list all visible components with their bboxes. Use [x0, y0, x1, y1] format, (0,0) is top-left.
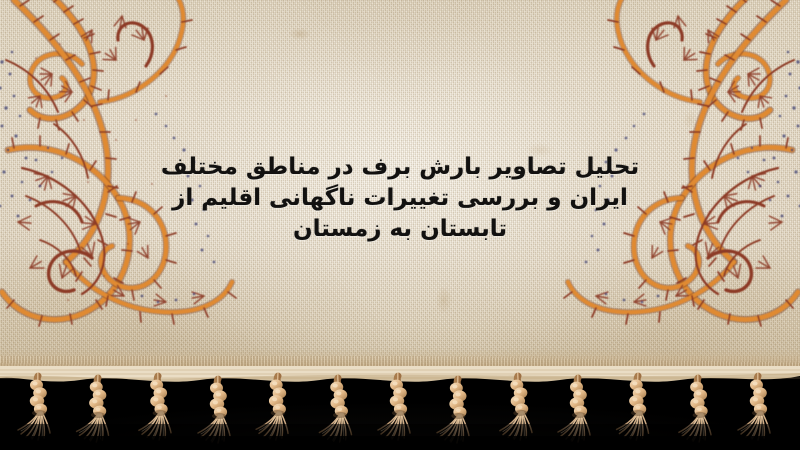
fringe-background [0, 366, 800, 450]
banner-title: تحلیل تصاویر بارش برف در مناطق مختلف ایر… [0, 152, 800, 245]
cloth-panel: تحلیل تصاویر بارش برف در مناطق مختلف ایر… [0, 0, 800, 374]
title-line-1: تحلیل تصاویر بارش برف در مناطق مختلف [0, 152, 800, 183]
banner-image: تحلیل تصاویر بارش برف در مناطق مختلف ایر… [0, 0, 800, 450]
tassel-fringe [0, 366, 800, 450]
title-line-2: ایران و بررسی تغییرات ناگهانی اقلیم از [0, 183, 800, 214]
title-line-3: تابستان به زمستان [0, 214, 800, 245]
